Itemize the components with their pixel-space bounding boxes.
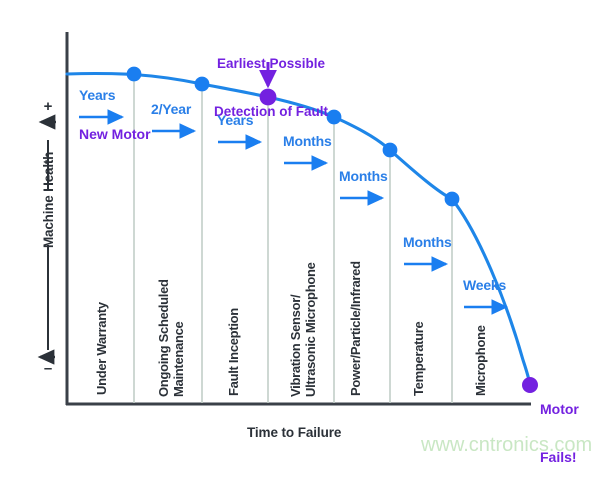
y-axis-title: Machine Health: [41, 188, 56, 248]
cadence-label-1: Years: [79, 87, 115, 103]
cadence-label-2: 2/Year: [151, 101, 191, 117]
pf-curve-diagram: Earliest Possible Detection of Fault Yea…: [0, 0, 601, 463]
data-point-motor-fails: [522, 377, 538, 393]
motor-fails-line-1: Motor: [540, 401, 600, 417]
data-point-temperature: [445, 192, 460, 207]
cadence-label-6: Months: [403, 234, 452, 250]
stage-label-power-particle-infrared: Power/Particle/Infrared: [348, 232, 363, 396]
data-point-power-particle-infrared: [383, 143, 398, 158]
new-motor-label: New Motor: [79, 125, 149, 143]
callout-line-1: Earliest Possible: [196, 56, 346, 72]
data-point-end-of-warranty: [127, 67, 142, 82]
stage-label-fault-inception: Fault Inception: [226, 278, 241, 396]
watermark: www.cntronics.com: [421, 434, 592, 457]
x-axis-title: Time to Failure: [247, 425, 341, 440]
cadence-label-4: Months: [283, 133, 332, 149]
stage-label-vibration-ultrasonic: Vibration Sensor/ Ultrasonic Microphone: [288, 230, 318, 397]
cadence-label-5: Months: [339, 168, 388, 184]
y-axis-plus-sign: +: [41, 98, 55, 115]
stage-label-microphone: Microphone: [473, 290, 488, 396]
stage-label-ongoing-scheduled-maintenance: Ongoing Scheduled Maintenance: [156, 242, 186, 397]
stage-label-temperature: Temperature: [411, 282, 426, 396]
y-axis-minus-sign: –: [41, 360, 55, 377]
stage-label-under-warranty: Under Warranty: [94, 255, 109, 395]
cadence-label-3: Years: [217, 112, 253, 128]
motor-fails-label: Motor Fails!: [540, 369, 600, 497]
